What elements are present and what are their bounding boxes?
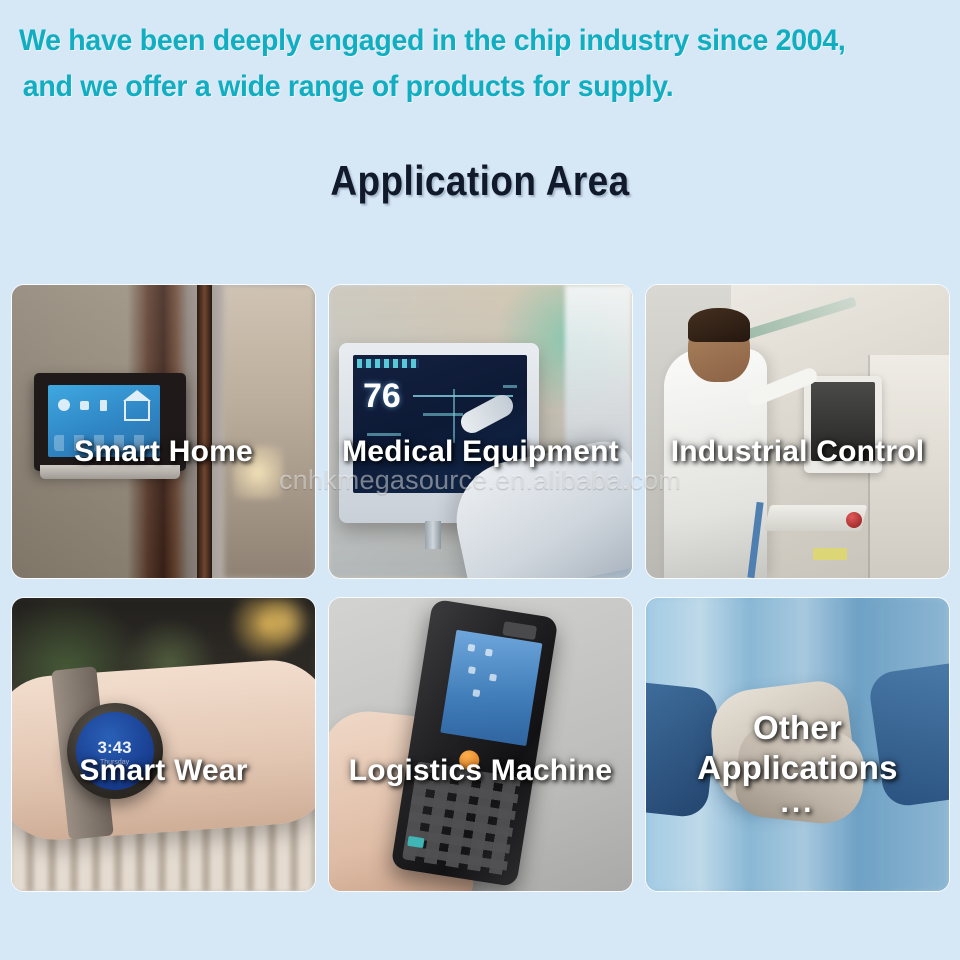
door-frame [197,285,212,578]
card-logistics-machine[interactable]: Logistics Machine [329,598,632,891]
monitor-topbar [357,359,419,368]
monitor-tick-1 [423,413,463,416]
promo-headline: We have been deeply engaged in the chip … [0,18,912,110]
monitor-reading-value: 76 [363,377,401,416]
industrial-control-photo [646,285,949,578]
doctor-coat [565,285,632,467]
control-monitor-glass [811,382,876,461]
terminal-app-icon-1 [467,644,475,652]
monitor-tick-4 [503,385,517,388]
smart-home-panel-device [34,373,186,471]
background-room [224,285,315,578]
terminal-app-icon-3 [468,666,476,674]
card-other-applications[interactable]: Other Applications ... [646,598,949,891]
application-area-grid: Smart Home 76 Medica [12,285,948,891]
other-applications-photo: Other Applications ... [646,598,949,891]
terminal-function-key [407,836,424,848]
watch-date: Thursday [76,759,154,766]
smart-home-photo [12,285,315,578]
watch-face: 3:43 Thursday [76,712,154,790]
temperature-icon [80,401,89,410]
terminal-app-icon-2 [485,649,493,657]
day-counter-icon [100,400,107,411]
smartwatch-device: 3:43 Thursday [67,703,163,799]
card-smart-home[interactable]: Smart Home [12,285,315,578]
sun-icon [58,399,70,411]
medical-equipment-photo: 76 [329,285,632,578]
terminal-app-icon-4 [489,674,497,682]
panel-shortcut-row [54,435,154,451]
handheld-terminal-device [390,599,558,888]
terminal-speaker [502,621,537,640]
terminal-screen [440,630,542,746]
page-title: Application Area [58,155,903,207]
card-smart-wear[interactable]: 3:43 Thursday Smart Wear [12,598,315,891]
headline-line-1: We have been deeply engaged in the chip … [19,18,893,64]
card-industrial-control[interactable]: Industrial Control [646,285,949,578]
handshake-hand-lower [732,721,868,828]
technician-hair [688,308,750,342]
watch-time: 3:43 [76,738,154,758]
logistics-machine-photo [329,598,632,891]
machine-yellow-label [813,548,847,560]
terminal-keypad [402,762,520,875]
control-monitor [804,376,883,473]
terminal-app-icon-5 [472,689,480,697]
monitor-tick-3 [367,433,401,436]
monitor-divider [453,389,455,443]
house-icon [124,401,150,421]
headline-line-2: and we offer a wide range of products fo… [19,64,893,110]
card-medical-equipment[interactable]: 76 Medical Equipment [329,285,632,578]
panel-base [40,465,180,479]
monitor-stand [425,521,441,549]
smart-wear-photo: 3:43 Thursday [12,598,315,891]
panel-screen [48,385,160,457]
